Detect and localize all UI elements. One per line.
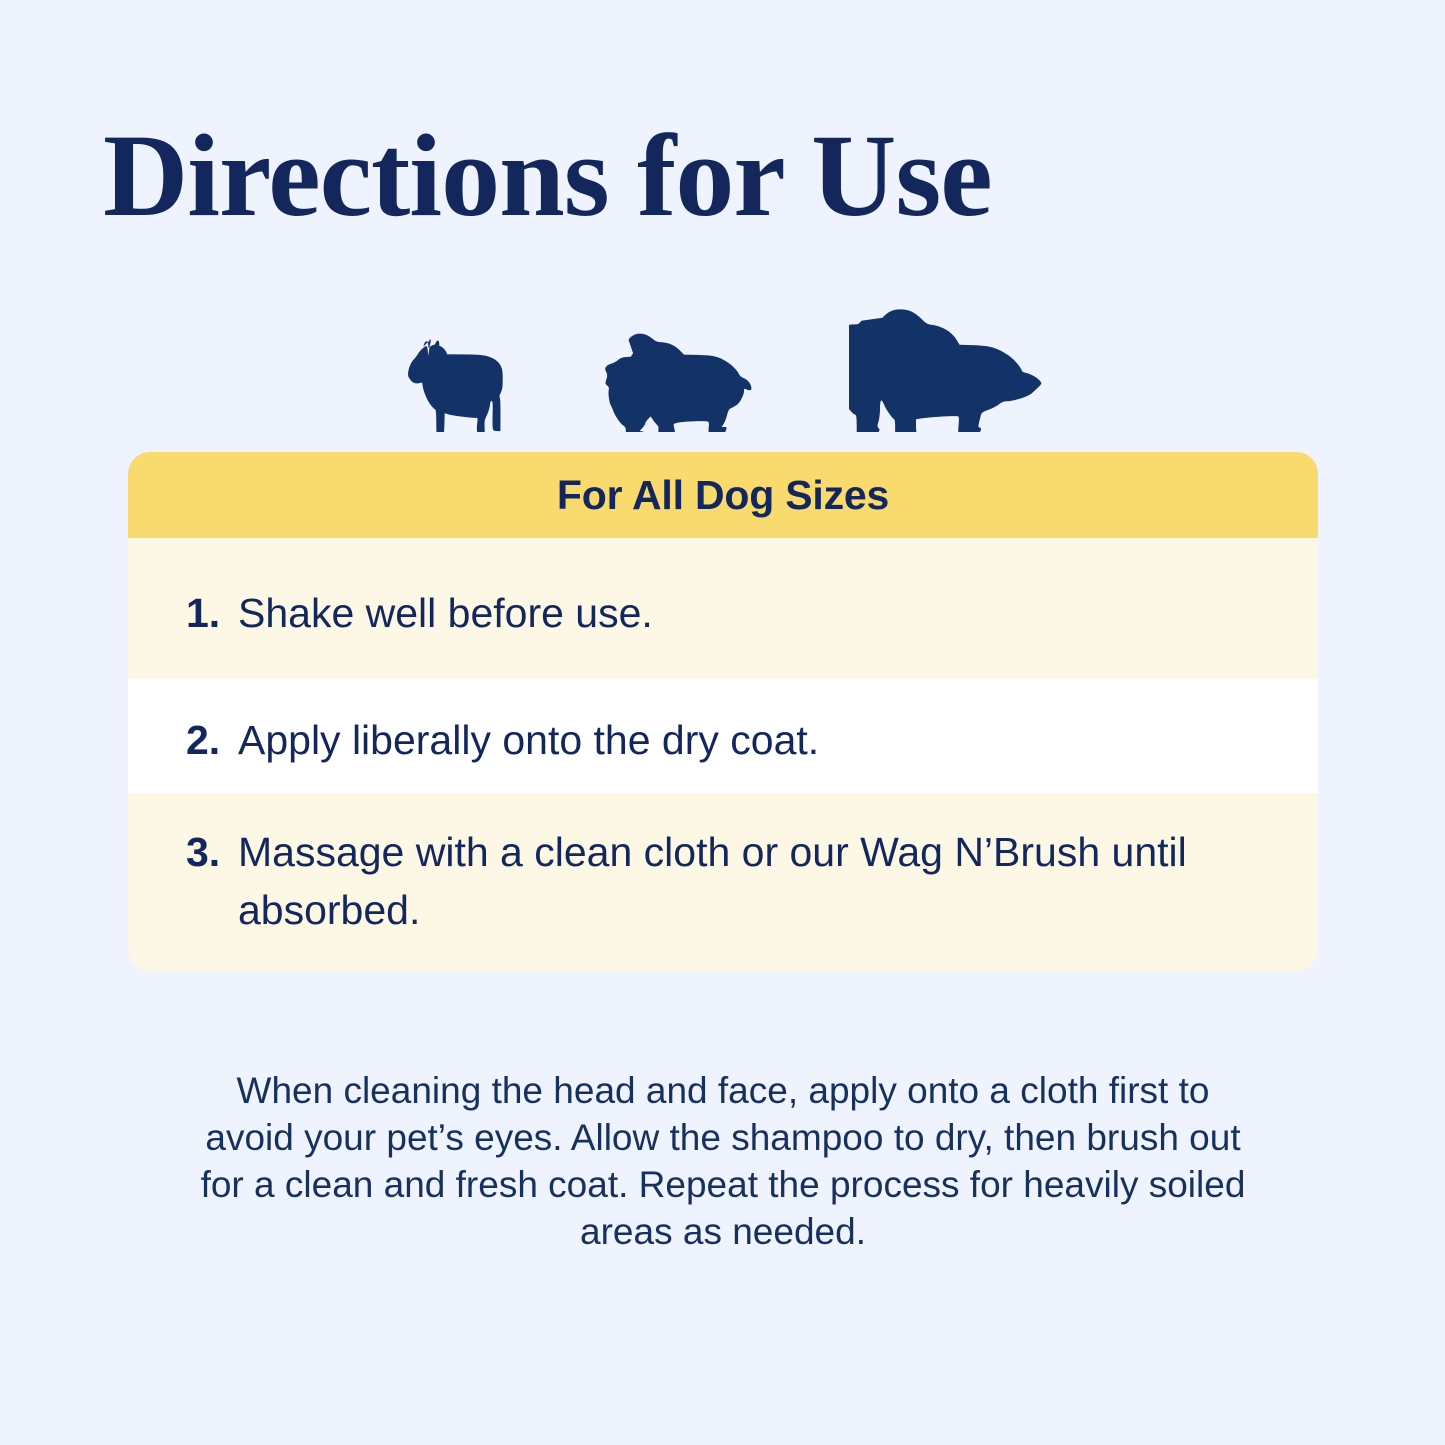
step-number: 3. <box>186 829 238 876</box>
directions-card: For All Dog Sizes 1. Shake well before u… <box>128 452 1318 971</box>
step-text: Shake well before use. <box>238 584 1318 642</box>
card-header-title: For All Dog Sizes <box>557 472 889 519</box>
footer-note: When cleaning the head and face, apply o… <box>198 1068 1248 1256</box>
step-row: 1. Shake well before use. <box>128 538 1318 679</box>
page-title: Directions for Use <box>103 117 992 235</box>
directions-for-use-page: Directions for Use For All Dog Sizes 1. … <box>0 0 1445 1445</box>
step-text: Apply liberally onto the dry coat. <box>238 711 1318 769</box>
step-text: Massage with a clean cloth or our Wag N’… <box>238 823 1318 939</box>
large-dog-silhouette <box>849 308 1045 432</box>
step-row: 2. Apply liberally onto the dry coat. <box>128 679 1318 793</box>
dog-sizes-illustration <box>0 296 1445 432</box>
medium-dog-silhouette <box>601 332 753 432</box>
step-number: 2. <box>186 717 238 764</box>
card-header: For All Dog Sizes <box>128 452 1318 538</box>
step-number: 1. <box>186 590 238 637</box>
small-dog-silhouette <box>401 338 505 432</box>
step-row: 3. Massage with a clean cloth or our Wag… <box>128 793 1318 971</box>
